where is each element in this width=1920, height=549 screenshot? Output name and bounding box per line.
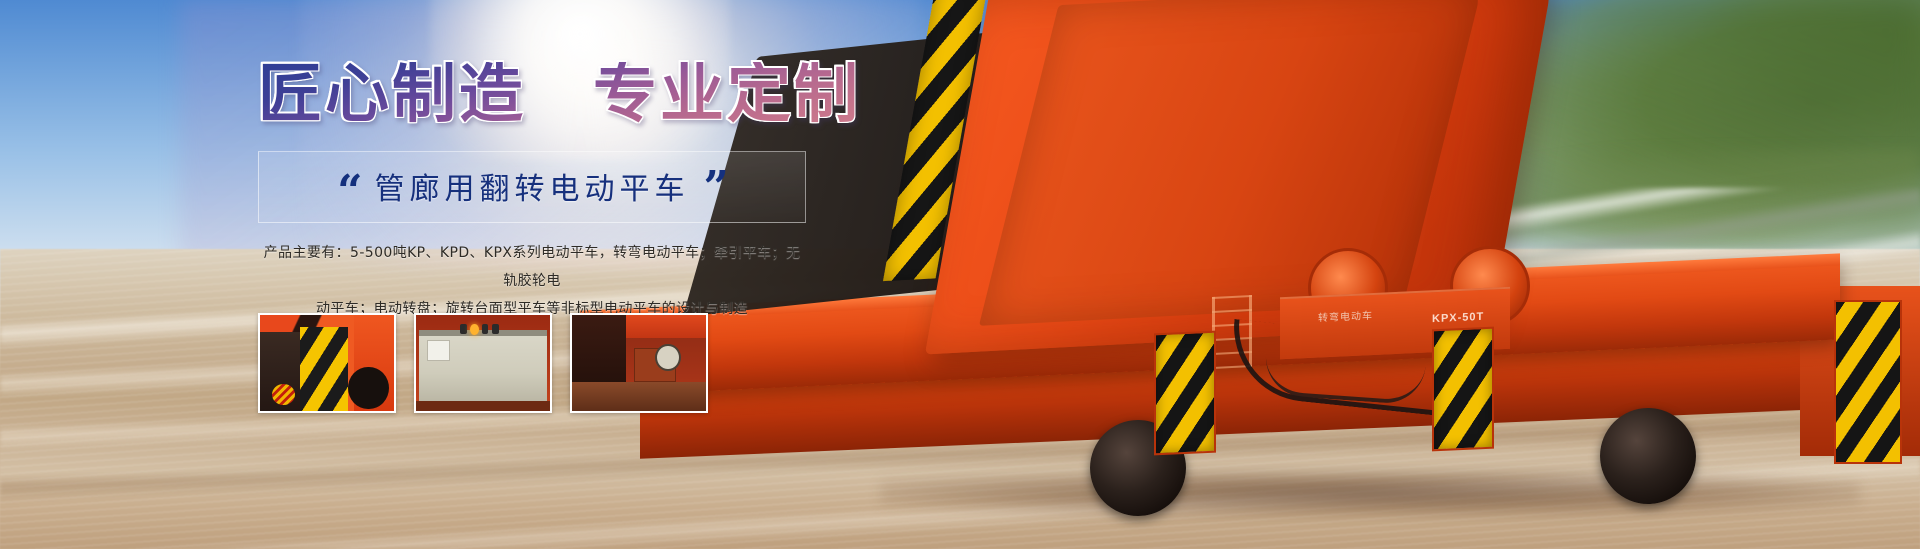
thumb-floor [572, 382, 706, 411]
thumb-wheel [348, 367, 388, 409]
promo-banner: 转弯电动车 KPX-50T 匠心制造 专业定制 “ 管廊用翻转电动平车 ” 产品… [0, 0, 1920, 549]
thumb-hazard-chevrons [300, 327, 348, 411]
product-description: 产品主要有：5-500吨KP、KPD、KPX系列电动平车，转弯电动平车；牵引平车… [258, 239, 806, 323]
banner-headline: 匠心制造 专业定制 [258, 62, 858, 129]
thumb-gauge [655, 344, 680, 371]
thumb-indicator-lamp [470, 324, 479, 336]
cart-plate-text: 转弯电动车 [1318, 307, 1373, 324]
cart-wheel [1600, 408, 1696, 504]
banner-text-block: 匠心制造 专业定制 “ 管廊用翻转电动平车 ” 产品主要有：5-500吨KP、K… [258, 62, 858, 323]
hazard-stripe-plate [1154, 331, 1216, 456]
thumb-button [482, 324, 489, 335]
thumb-spec-label [427, 340, 450, 361]
thumbnail-control-cabinet[interactable] [414, 313, 552, 413]
subtitle-row: “ 管廊用翻转电动平车 ” [259, 164, 805, 208]
electric-transfer-cart-photo: 转弯电动车 KPX-50T [760, 0, 1920, 549]
thumb-base [416, 401, 550, 411]
thumb-button [492, 324, 499, 335]
cart-ground-shadow [880, 470, 1860, 516]
thumb-button [460, 324, 467, 335]
hazard-stripe-plate [1432, 327, 1494, 452]
tipping-bucket-inner [979, 0, 1483, 326]
thumb-bumper-ball [272, 384, 295, 405]
quote-close-icon: ” [704, 173, 727, 204]
hazard-stripe-plate [1834, 300, 1902, 464]
quote-open-icon: “ [337, 177, 360, 208]
cart-plate-code: KPX-50T [1432, 311, 1484, 325]
thumbnail-hazard-stripe-cart[interactable] [258, 313, 396, 413]
banner-subtitle: 管廊用翻转电动平车 [375, 164, 690, 208]
description-line-1: 产品主要有：5-500吨KP、KPD、KPX系列电动平车，转弯电动平车；牵引平车… [264, 245, 801, 289]
thumbnail-operator-panel[interactable] [570, 313, 708, 413]
subtitle-container: “ 管廊用翻转电动平车 ” [258, 151, 806, 223]
thumbnail-strip [258, 313, 708, 413]
